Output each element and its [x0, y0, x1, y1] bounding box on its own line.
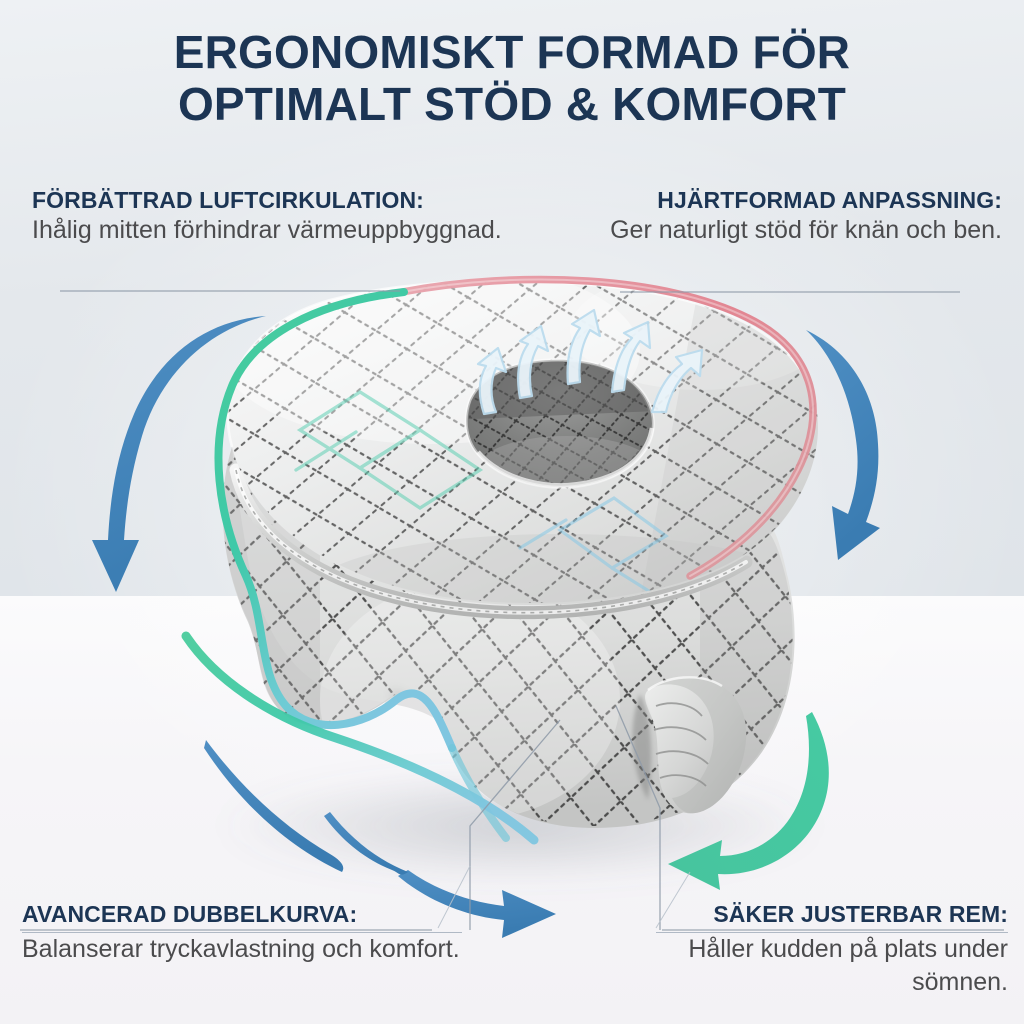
callout-heart-shape: HJÄRTFORMAD ANPASSNING: Ger naturligt st… [540, 186, 1002, 247]
callout-heart-shape-body: Ger naturligt stöd för knän och ben. [540, 214, 1002, 247]
callout-air-circulation-heading: FÖRBÄTTRAD LUFTCIRKULATION: [32, 186, 528, 214]
callout-adjustable-strap-rule [656, 932, 1008, 933]
arrow-right-blue [806, 330, 880, 560]
callout-double-curve: AVANCERAD DUBBELKURVA: Balanserar trycka… [22, 900, 462, 966]
title-line-2: OPTIMALT STÖD & KOMFORT [0, 78, 1024, 130]
callout-air-circulation: FÖRBÄTTRAD LUFTCIRKULATION: Ihålig mitte… [32, 186, 528, 247]
callout-air-circulation-body: Ihålig mitten förhindrar värmeuppbyggnad… [32, 214, 528, 247]
product-illustration [0, 0, 1024, 1024]
callout-double-curve-rule [22, 932, 462, 933]
callout-double-curve-body: Balanserar tryckavlastning och komfort. [22, 933, 462, 966]
callout-adjustable-strap: SÄKER JUSTERBAR REM: Håller kudden på pl… [656, 900, 1008, 999]
callout-heart-shape-heading: HJÄRTFORMAD ANPASSNING: [540, 186, 1002, 214]
callout-double-curve-heading: AVANCERAD DUBBELKURVA: [22, 900, 462, 928]
infographic-canvas: ERGONOMISKT FORMAD FÖR OPTIMALT STÖD & K… [0, 0, 1024, 1024]
callout-adjustable-strap-body: Håller kudden på plats under sömnen. [656, 933, 1008, 999]
title-line-1: ERGONOMISKT FORMAD FÖR [0, 26, 1024, 78]
page-title: ERGONOMISKT FORMAD FÖR OPTIMALT STÖD & K… [0, 26, 1024, 130]
callout-adjustable-strap-heading: SÄKER JUSTERBAR REM: [656, 900, 1008, 928]
